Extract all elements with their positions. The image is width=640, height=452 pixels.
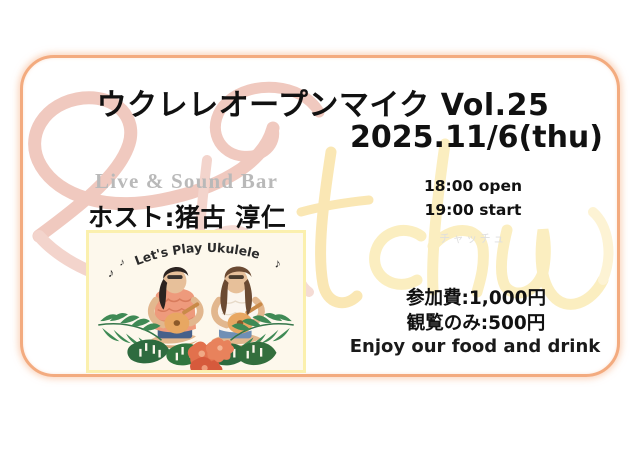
food-and-drink-note: Enjoy our food and drink (347, 336, 603, 357)
poster-card: ウクレレオープンマイク Vol.25 2025.11/6(thu) Live &… (20, 55, 620, 377)
music-note-right-icon: ♪ (275, 256, 281, 270)
ukulele-players-illustration: Let's Play Ukulele ♪ ♪ ♪ (89, 233, 303, 370)
venue-label: Live & Sound Bar (95, 169, 278, 194)
music-note-left2-icon: ♪ (108, 266, 114, 280)
poster-date: 2025.11/6(thu) (23, 120, 603, 155)
brand-name-kana: チャッチュ (353, 230, 593, 246)
time-open: 18:00 open (353, 177, 593, 195)
time-start: 19:00 start (353, 201, 593, 219)
fee-viewing-only: 観覧のみ:500円 (351, 309, 601, 335)
music-note-left-icon: ♪ (119, 257, 124, 269)
fee-participation: 参加費:1,000円 (351, 284, 601, 310)
poster-title: ウクレレオープンマイク Vol.25 (23, 80, 620, 124)
host-name: ホスト:猪古 淳仁 (88, 198, 286, 234)
illustration-card: Let's Play Ukulele ♪ ♪ ♪ (86, 230, 306, 373)
